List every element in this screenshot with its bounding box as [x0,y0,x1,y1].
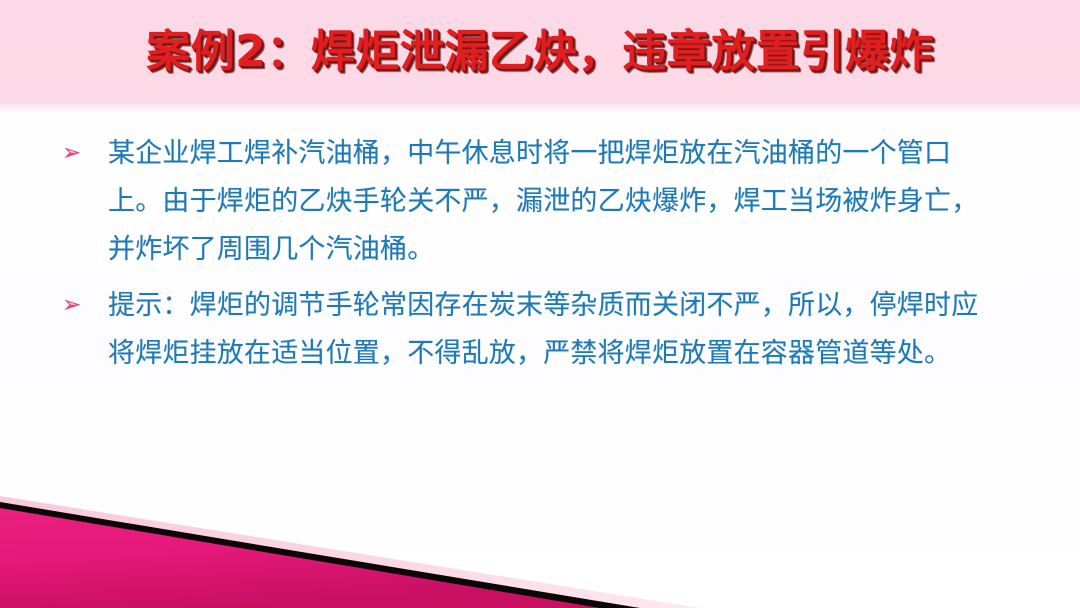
banner-light-pink-wedge [0,496,700,608]
page-title: 案例2：焊炬泄漏乙炔，违章放置引爆炸 [0,22,1080,82]
banner-black-wedge [0,502,640,608]
arrow-bullet-icon: ➢ [62,288,92,320]
list-item: ➢ 某企业焊工焊补汽油桶，中午休息时将一把焊炬放在汽油桶的一个管口上。由于焊炬的… [0,130,1080,274]
banner-magenta-wedge [0,508,600,608]
bullet-list: ➢ 某企业焊工焊补汽油桶，中午休息时将一把焊炬放在汽油桶的一个管口上。由于焊炬的… [0,130,1080,386]
banner-shapes [0,488,1080,608]
bottom-diagonal-banner [0,488,1080,608]
slide-canvas: 案例2：焊炬泄漏乙炔，违章放置引爆炸 ➢ 某企业焊工焊补汽油桶，中午休息时将一把… [0,0,1080,608]
bullet-text-2: 提示：焊炬的调节手轮常因存在炭末等杂质而关闭不严，所以，停焊时应将焊炬挂放在适当… [108,282,988,378]
header-band-fade [0,104,1080,114]
list-item: ➢ 提示：焊炬的调节手轮常因存在炭末等杂质而关闭不严，所以，停焊时应将焊炬挂放在… [0,282,1080,378]
bullet-text-1: 某企业焊工焊补汽油桶，中午休息时将一把焊炬放在汽油桶的一个管口上。由于焊炬的乙炔… [108,130,988,274]
arrow-bullet-icon: ➢ [62,136,92,168]
